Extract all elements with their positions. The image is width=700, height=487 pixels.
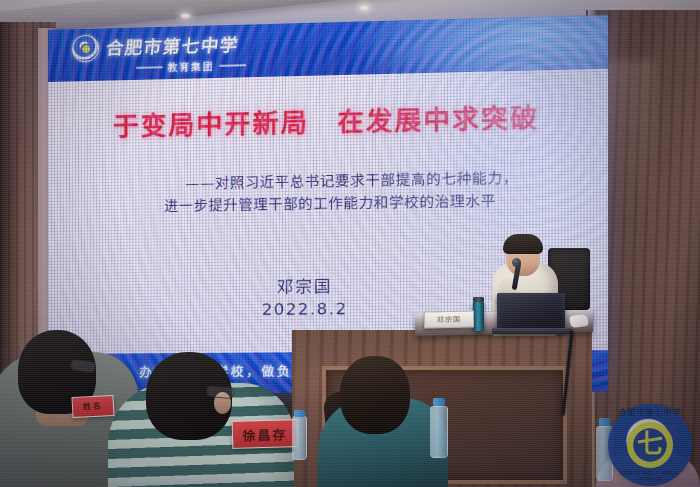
water-bottle-icon bbox=[292, 416, 307, 460]
school-watermark-logo: 合肥市第七中学 七 HEFEI NO.7 HIGH SCHOOL bbox=[608, 404, 692, 486]
desk-nameplate: 邓宗国 bbox=[424, 310, 474, 328]
watermark-ring-top-text: 合肥市第七中学 bbox=[608, 407, 692, 418]
microphone-head-icon bbox=[512, 258, 521, 267]
header-glow bbox=[345, 15, 608, 82]
thermos-cap-icon bbox=[473, 297, 484, 302]
rule-left-icon bbox=[136, 66, 162, 68]
laptop-icon bbox=[497, 293, 565, 332]
rule-right-icon bbox=[220, 64, 247, 66]
tissue-icon bbox=[569, 314, 588, 328]
water-bottle-cap-icon bbox=[599, 418, 610, 426]
slide-title: 于变局中开新局 在发展中求突破 bbox=[48, 96, 608, 145]
watermark-emblem-icon: 七 bbox=[637, 431, 663, 457]
watermark-ring-bottom-text: HEFEI NO.7 HIGH SCHOOL bbox=[608, 471, 692, 483]
audience-person-2-glasses bbox=[206, 385, 235, 399]
name-placard-left: 姓名 bbox=[71, 395, 114, 418]
school-branding: 合肥市第七中学 bbox=[72, 31, 239, 62]
name-placard-left-text: 姓名 bbox=[83, 400, 104, 412]
school-group-text: 教育集团 bbox=[168, 59, 215, 74]
school-seal-icon bbox=[72, 35, 99, 63]
downlight-icon bbox=[359, 5, 370, 11]
water-bottle-cap-icon bbox=[433, 398, 445, 406]
audience-person-3-head bbox=[340, 356, 410, 434]
name-placard-front-text: 徐昌存 bbox=[242, 424, 287, 444]
speaker-glasses bbox=[506, 250, 540, 256]
water-bottle-cap-icon bbox=[294, 410, 305, 417]
water-bottle-icon bbox=[430, 406, 448, 458]
laptop-base bbox=[492, 328, 572, 334]
desk-nameplate-text: 邓宗国 bbox=[437, 314, 461, 325]
thermos-icon bbox=[473, 301, 484, 331]
name-placard-front: 徐昌存 bbox=[232, 419, 299, 449]
school-name-text: 合肥市第七中学 bbox=[105, 32, 241, 61]
photo-scene: 合肥市第七中学 教育集团 于变局中开新局 在发展中求突破 ——对照习近平总书记要… bbox=[0, 0, 700, 487]
school-group-line: 教育集团 bbox=[136, 58, 246, 75]
downlight-icon bbox=[180, 13, 191, 19]
